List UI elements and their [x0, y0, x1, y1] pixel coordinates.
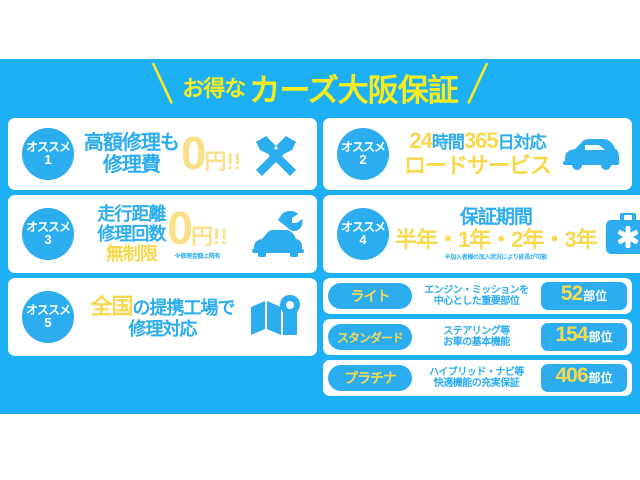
card5-line1: 全国 の提携工場で [90, 295, 234, 320]
badge-number: 1 [44, 153, 51, 167]
plan-count-badge: 52 部位 [541, 282, 627, 310]
plan-description: ステアリング等 お車の基本機能 [412, 326, 541, 349]
plan-description: エンジン・ミッションを 中心とした重要部位 [412, 285, 541, 308]
slash-left-decoration: ＼ [140, 63, 184, 107]
feature-card-4-text: 保証期間 半年・1年・2年・3年 ※加入者様の加入状況により延長が可能 [395, 207, 597, 262]
badge-number: 4 [359, 233, 366, 247]
feature-card-3: オススメ 3 走行距離 修理回数 無制限 0 円!! ※修理金額上限有 [8, 195, 317, 273]
card2-hours-number: 24 [409, 129, 431, 154]
card2-days-unit: 日対応 [498, 133, 546, 152]
feature-row-3: オススメ 5 全国 の提携工場で 修理対応 [8, 278, 632, 396]
feature-card-2-text: 24 時間 365 日対応 ロードサービス [404, 129, 551, 178]
plan-desc-line2: 中心とした重要部位 [412, 296, 541, 308]
card2-days-number: 365 [464, 129, 498, 154]
medical-kit-icon [597, 206, 640, 262]
card3-amount-unit: 円!! [191, 227, 228, 247]
promo-banner-page: ＼ お得な カーズ大阪保証 ／ オススメ 1 高額修理も 修理費 0 [0, 0, 640, 480]
feature-grid: オススメ 1 高額修理も 修理費 0 円!! [8, 118, 632, 401]
feature-card-3-text: 走行距離 修理回数 無制限 [97, 204, 165, 264]
feature-card-5-body: 全国 の提携工場で 修理対応 [80, 295, 245, 340]
feature-card-2-body: 24 時間 365 日対応 ロードサービス [395, 129, 560, 178]
card3-line2: 修理回数 [97, 224, 165, 244]
plan-row-platinum[interactable]: プラチナ ハイブリッド・ナビ等 快適機能の充実保証 406 部位 [323, 360, 632, 396]
card1-amount-unit: 円!! [204, 152, 241, 172]
plan-row-standard[interactable]: スタンダード ステアリング等 お車の基本機能 154 部位 [323, 319, 632, 355]
plan-count-number: 154 [555, 323, 587, 347]
plan-count-number: 52 [561, 282, 582, 306]
card4-note: ※加入者様の加入状況により延長が可能 [445, 255, 547, 262]
car-icon [560, 126, 622, 182]
card3-line1: 走行距離 [97, 204, 165, 224]
feature-card-5: オススメ 5 全国 の提携工場で 修理対応 [8, 278, 317, 356]
feature-card-4-body: 保証期間 半年・1年・2年・3年 ※加入者様の加入状況により延長が可能 [395, 207, 597, 262]
plan-table: ライト エンジン・ミッションを 中心とした重要部位 52 部位 スタンダード ス… [323, 278, 632, 396]
badge-osusume-4: オススメ 4 [337, 208, 389, 260]
plan-description: ハイブリッド・ナビ等 快適機能の充実保証 [412, 367, 541, 390]
feature-row-2: オススメ 3 走行距離 修理回数 無制限 0 円!! ※修理金額上限有 [8, 195, 632, 273]
plan-row-light[interactable]: ライト エンジン・ミッションを 中心とした重要部位 52 部位 [323, 278, 632, 314]
plan-name-badge: プラチナ [328, 365, 412, 391]
card2-line2: ロードサービス [404, 154, 551, 179]
crossed-hammers-icon [245, 126, 307, 182]
card3-line3: 無制限 [106, 244, 157, 264]
title-prefix: お得な [182, 71, 245, 103]
feature-card-1-text: 高額修理も 修理費 [84, 132, 179, 177]
badge-osusume-1: オススメ 1 [22, 128, 74, 180]
badge-osusume-5: オススメ 5 [22, 291, 74, 343]
slash-right-decoration: ／ [456, 63, 500, 107]
plan-count-unit: 部位 [589, 328, 613, 345]
feature-card-2: オススメ 2 24 時間 365 日対応 ロードサービス [323, 118, 632, 190]
feature-card-4: オススメ 4 保証期間 半年・1年・2年・3年 ※加入者様の加入状況により延長が… [323, 195, 640, 273]
card3-note: ※修理金額上限有 [175, 251, 220, 260]
card1-line2: 修理費 [103, 154, 160, 176]
card3-amount-wrap: 0 円!! ※修理金額上限有 [167, 208, 227, 260]
plan-desc-line1: ステアリング等 [412, 326, 541, 338]
feature-card-5-text: 全国 の提携工場で 修理対応 [90, 295, 234, 340]
feature-card-1: オススメ 1 高額修理も 修理費 0 円!! [8, 118, 317, 190]
plan-count-unit: 部位 [589, 369, 613, 386]
badge-number: 5 [44, 316, 51, 330]
badge-number: 2 [359, 153, 366, 167]
badge-number: 3 [44, 233, 51, 247]
card2-line1: 24 時間 365 日対応 [409, 129, 545, 154]
map-pin-icon [245, 289, 307, 345]
badge-osusume-3: オススメ 3 [22, 208, 74, 260]
plan-desc-line1: エンジン・ミッションを [412, 285, 541, 297]
page-title: ＼ お得な カーズ大阪保証 ／ [0, 66, 640, 108]
card5-line2: 修理対応 [128, 319, 196, 339]
card5-highlight: 全国 [90, 295, 132, 320]
card4-line2: 半年・1年・2年・3年 [395, 228, 597, 253]
feature-row-1: オススメ 1 高額修理も 修理費 0 円!! [8, 118, 632, 190]
card1-amount: 0 円!! [181, 133, 241, 174]
plan-name-badge: スタンダード [328, 324, 412, 350]
plan-desc-line1: ハイブリッド・ナビ等 [412, 367, 541, 379]
card3-amount: 0 円!! [167, 208, 227, 249]
title-main: カーズ大阪保証 [249, 65, 457, 110]
car-wrench-icon [245, 206, 307, 262]
plan-count-badge: 406 部位 [541, 364, 627, 392]
plan-count-badge: 154 部位 [541, 323, 627, 351]
card3-amount-number: 0 [167, 208, 193, 249]
plan-count-number: 406 [555, 364, 587, 388]
feature-card-3-body: 走行距離 修理回数 無制限 0 円!! ※修理金額上限有 [80, 204, 245, 264]
badge-osusume-2: オススメ 2 [337, 128, 389, 180]
plan-desc-line2: 快適機能の充実保証 [412, 378, 541, 390]
plan-name-badge: ライト [328, 283, 412, 309]
plan-desc-line2: お車の基本機能 [412, 337, 541, 349]
card1-amount-number: 0 [181, 133, 207, 174]
card1-line1: 高額修理も [84, 132, 179, 154]
card5-line1-rest: の提携工場で [133, 298, 235, 318]
feature-card-1-body: 高額修理も 修理費 0 円!! [80, 132, 245, 177]
plan-count-unit: 部位 [583, 287, 607, 304]
card2-hours-unit: 時間 [432, 133, 464, 152]
card4-line1: 保証期間 [460, 207, 532, 228]
